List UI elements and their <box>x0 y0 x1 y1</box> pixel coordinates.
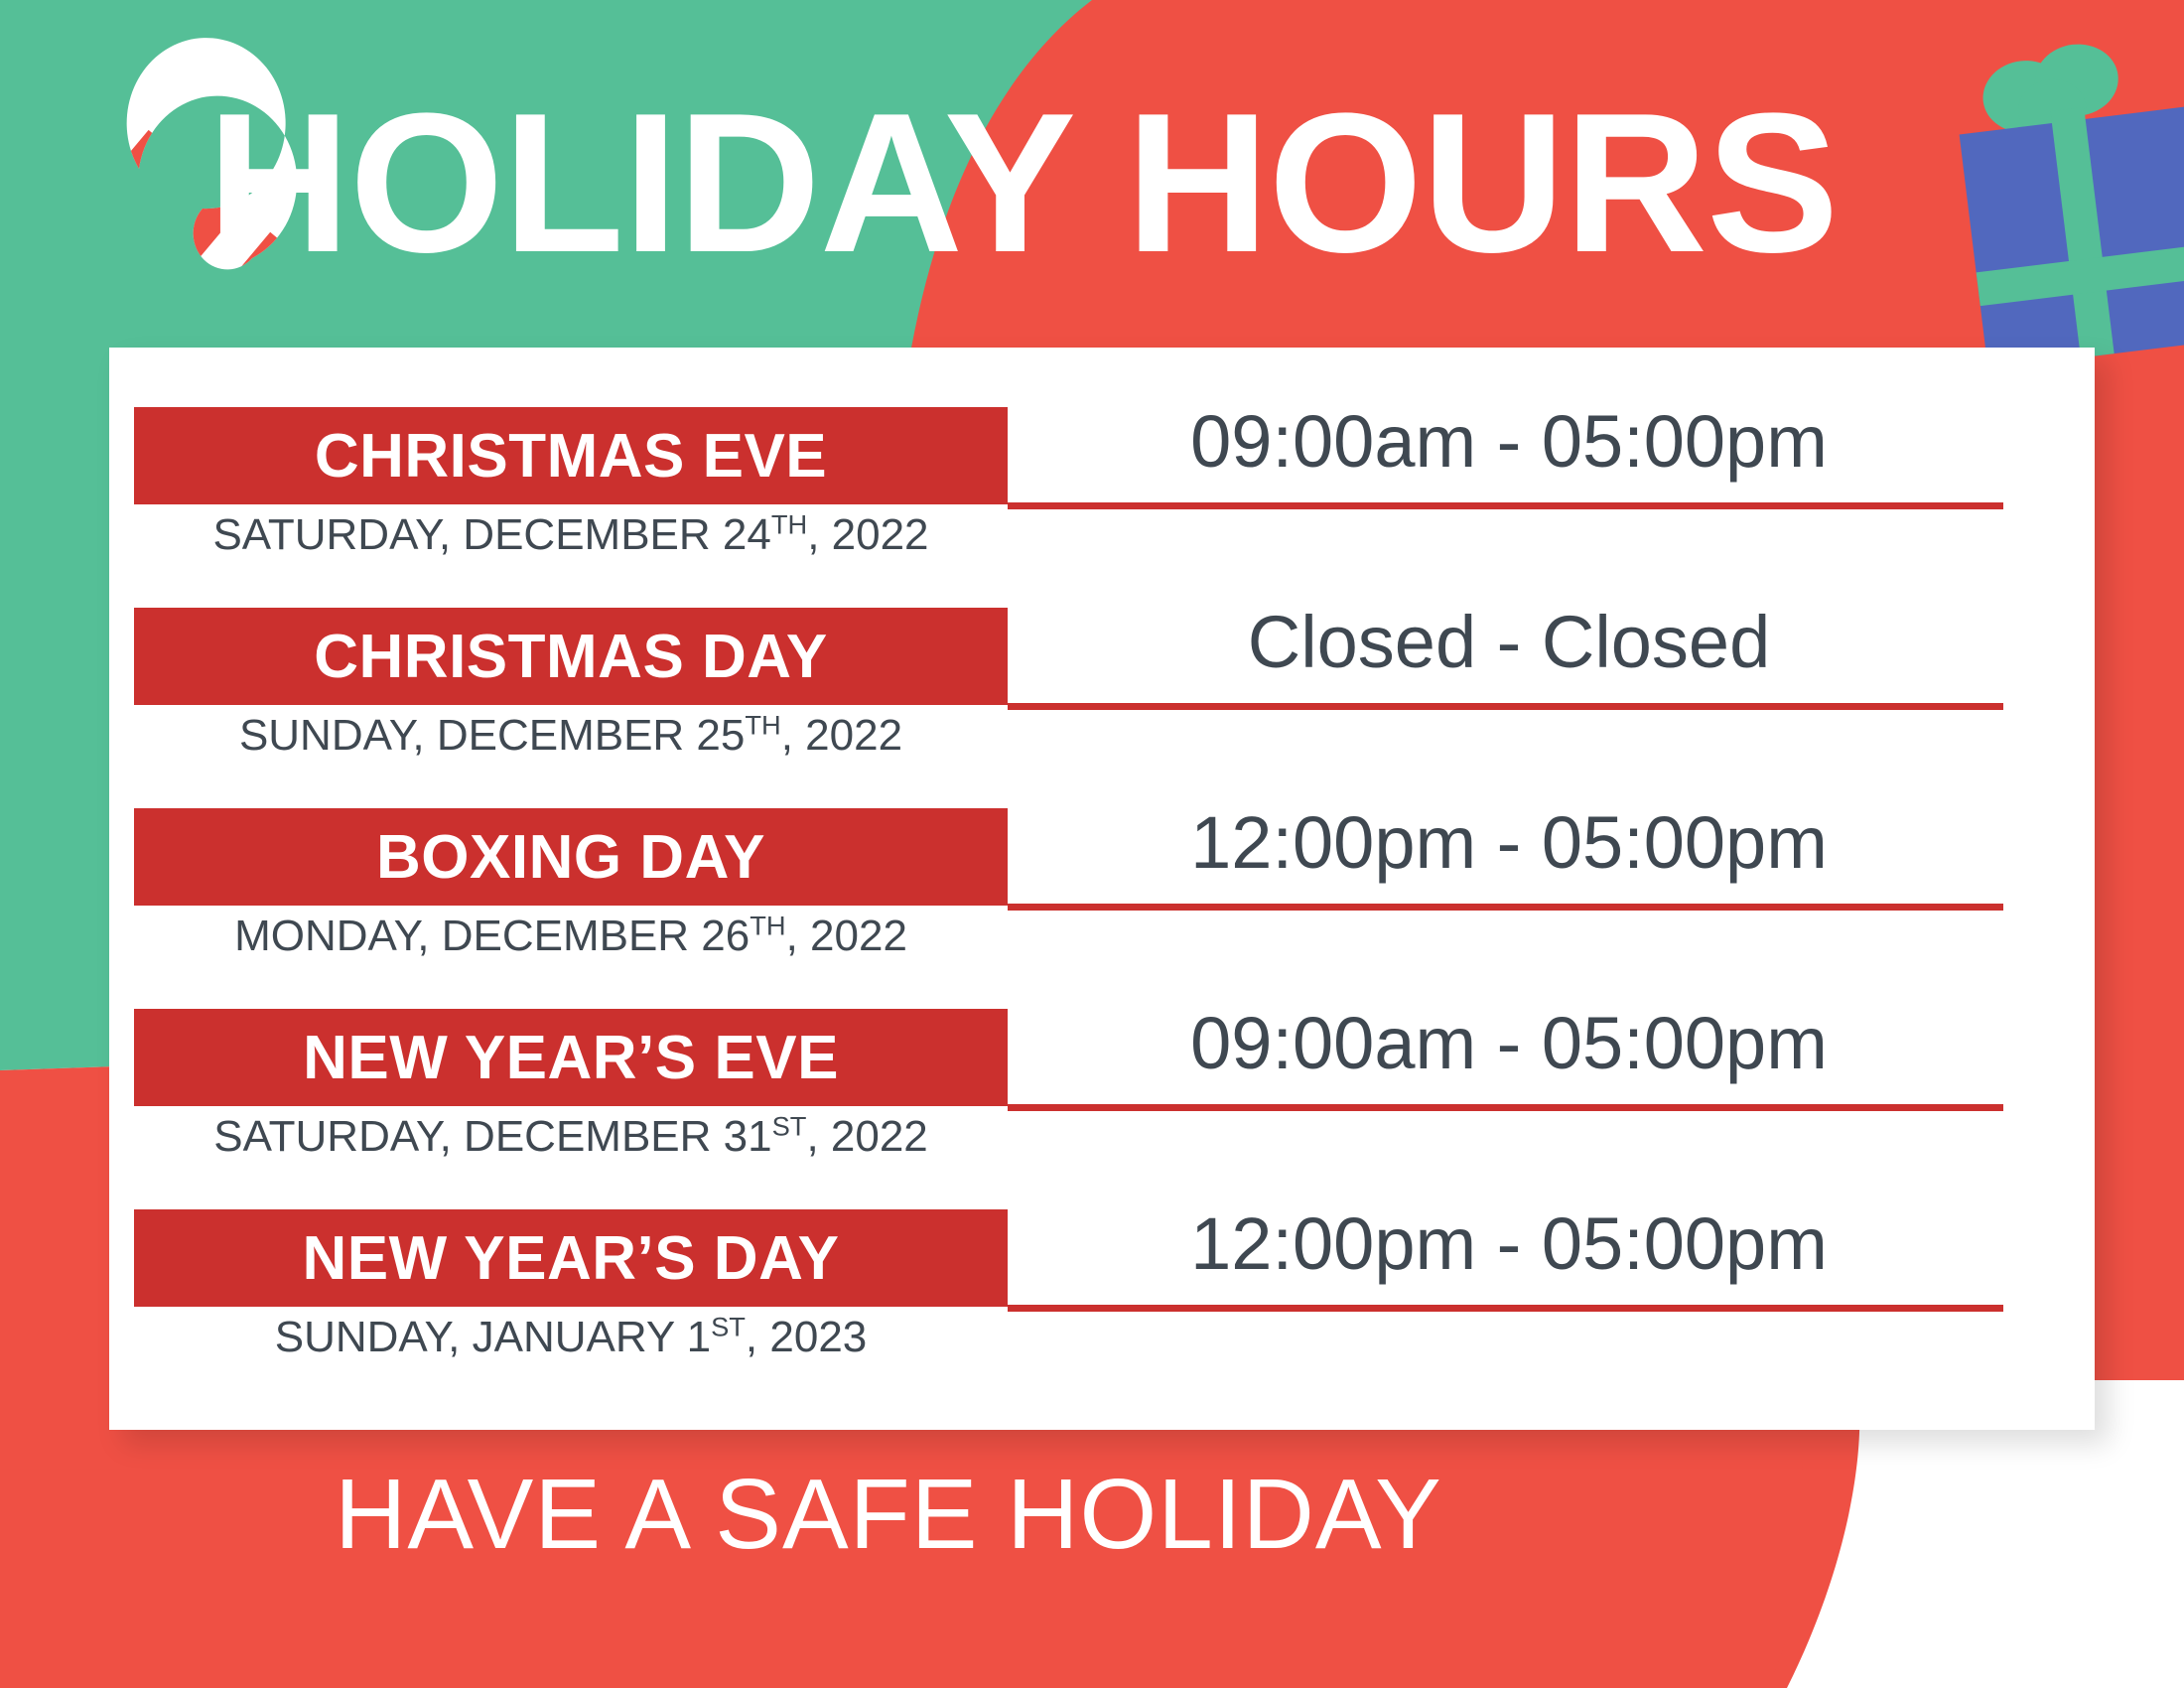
hours-underline <box>1008 703 2003 710</box>
date-ordinal: ST <box>772 1110 807 1141</box>
table-row: NEW YEAR’S EVE SATURDAY, DECEMBER 31ST, … <box>109 1009 2095 1209</box>
table-row: CHRISTMAS EVE SATURDAY, DECEMBER 24TH, 2… <box>109 407 2095 608</box>
hours-card: CHRISTMAS EVE SATURDAY, DECEMBER 24TH, 2… <box>109 348 2095 1430</box>
holiday-date: SATURDAY, DECEMBER 24TH, 2022 <box>134 510 1008 560</box>
holiday-hours: 12:00pm - 05:00pm <box>1008 1201 2010 1286</box>
holiday-date: MONDAY, DECEMBER 26TH, 2022 <box>134 912 1008 961</box>
date-ordinal: TH <box>745 709 780 740</box>
holiday-date-text: SUNDAY, DECEMBER 25 <box>239 711 745 760</box>
hours-underline <box>1008 904 2003 911</box>
holiday-hours: Closed - Closed <box>1008 600 2010 684</box>
holiday-label-chip: NEW YEAR’S DAY <box>134 1209 1008 1307</box>
date-ordinal: TH <box>771 508 807 539</box>
holiday-name: NEW YEAR’S DAY <box>302 1223 839 1294</box>
holiday-hours: 09:00am - 05:00pm <box>1008 1001 2010 1085</box>
hours-underline <box>1008 1104 2003 1111</box>
holiday-name: NEW YEAR’S EVE <box>303 1023 839 1093</box>
footer-message: HAVE A SAFE HOLIDAY <box>0 1458 1777 1572</box>
holiday-hours: 12:00pm - 05:00pm <box>1008 800 2010 885</box>
date-year: , 2022 <box>806 1112 927 1161</box>
hours-underline <box>1008 502 2003 509</box>
holiday-label-chip: BOXING DAY <box>134 808 1008 906</box>
holiday-date: SATURDAY, DECEMBER 31ST, 2022 <box>134 1112 1008 1162</box>
holiday-date-text: SATURDAY, DECEMBER 24 <box>212 510 770 559</box>
date-year: , 2022 <box>786 912 907 960</box>
schedule-table: CHRISTMAS EVE SATURDAY, DECEMBER 24TH, 2… <box>109 348 2095 1410</box>
date-year: , 2023 <box>746 1313 867 1361</box>
holiday-name: BOXING DAY <box>376 822 765 893</box>
table-row: NEW YEAR’S DAY SUNDAY, JANUARY 1ST, 2023… <box>109 1209 2095 1410</box>
hours-underline <box>1008 1305 2003 1312</box>
holiday-hours-poster: HOLIDAY HOURS CHRISTMAS EVE SATURDAY, DE… <box>0 0 2184 1688</box>
date-year: , 2022 <box>781 711 902 760</box>
holiday-name: CHRISTMAS DAY <box>314 622 828 692</box>
page-title: HOLIDAY HOURS <box>0 89 2045 278</box>
holiday-date-text: SUNDAY, JANUARY 1 <box>275 1313 711 1361</box>
table-row: BOXING DAY MONDAY, DECEMBER 26TH, 2022 1… <box>109 808 2095 1009</box>
holiday-date-text: SATURDAY, DECEMBER 31 <box>213 1112 771 1161</box>
holiday-date-text: MONDAY, DECEMBER 26 <box>234 912 750 960</box>
holiday-label-chip: CHRISTMAS EVE <box>134 407 1008 504</box>
holiday-label-chip: CHRISTMAS DAY <box>134 608 1008 705</box>
holiday-date: SUNDAY, DECEMBER 25TH, 2022 <box>134 711 1008 761</box>
holiday-date: SUNDAY, JANUARY 1ST, 2023 <box>134 1313 1008 1362</box>
holiday-label-chip: NEW YEAR’S EVE <box>134 1009 1008 1106</box>
date-year: , 2022 <box>807 510 928 559</box>
holiday-name: CHRISTMAS EVE <box>315 421 827 492</box>
holiday-hours: 09:00am - 05:00pm <box>1008 399 2010 484</box>
date-ordinal: TH <box>750 910 785 940</box>
date-ordinal: ST <box>711 1311 746 1341</box>
table-row: CHRISTMAS DAY SUNDAY, DECEMBER 25TH, 202… <box>109 608 2095 808</box>
